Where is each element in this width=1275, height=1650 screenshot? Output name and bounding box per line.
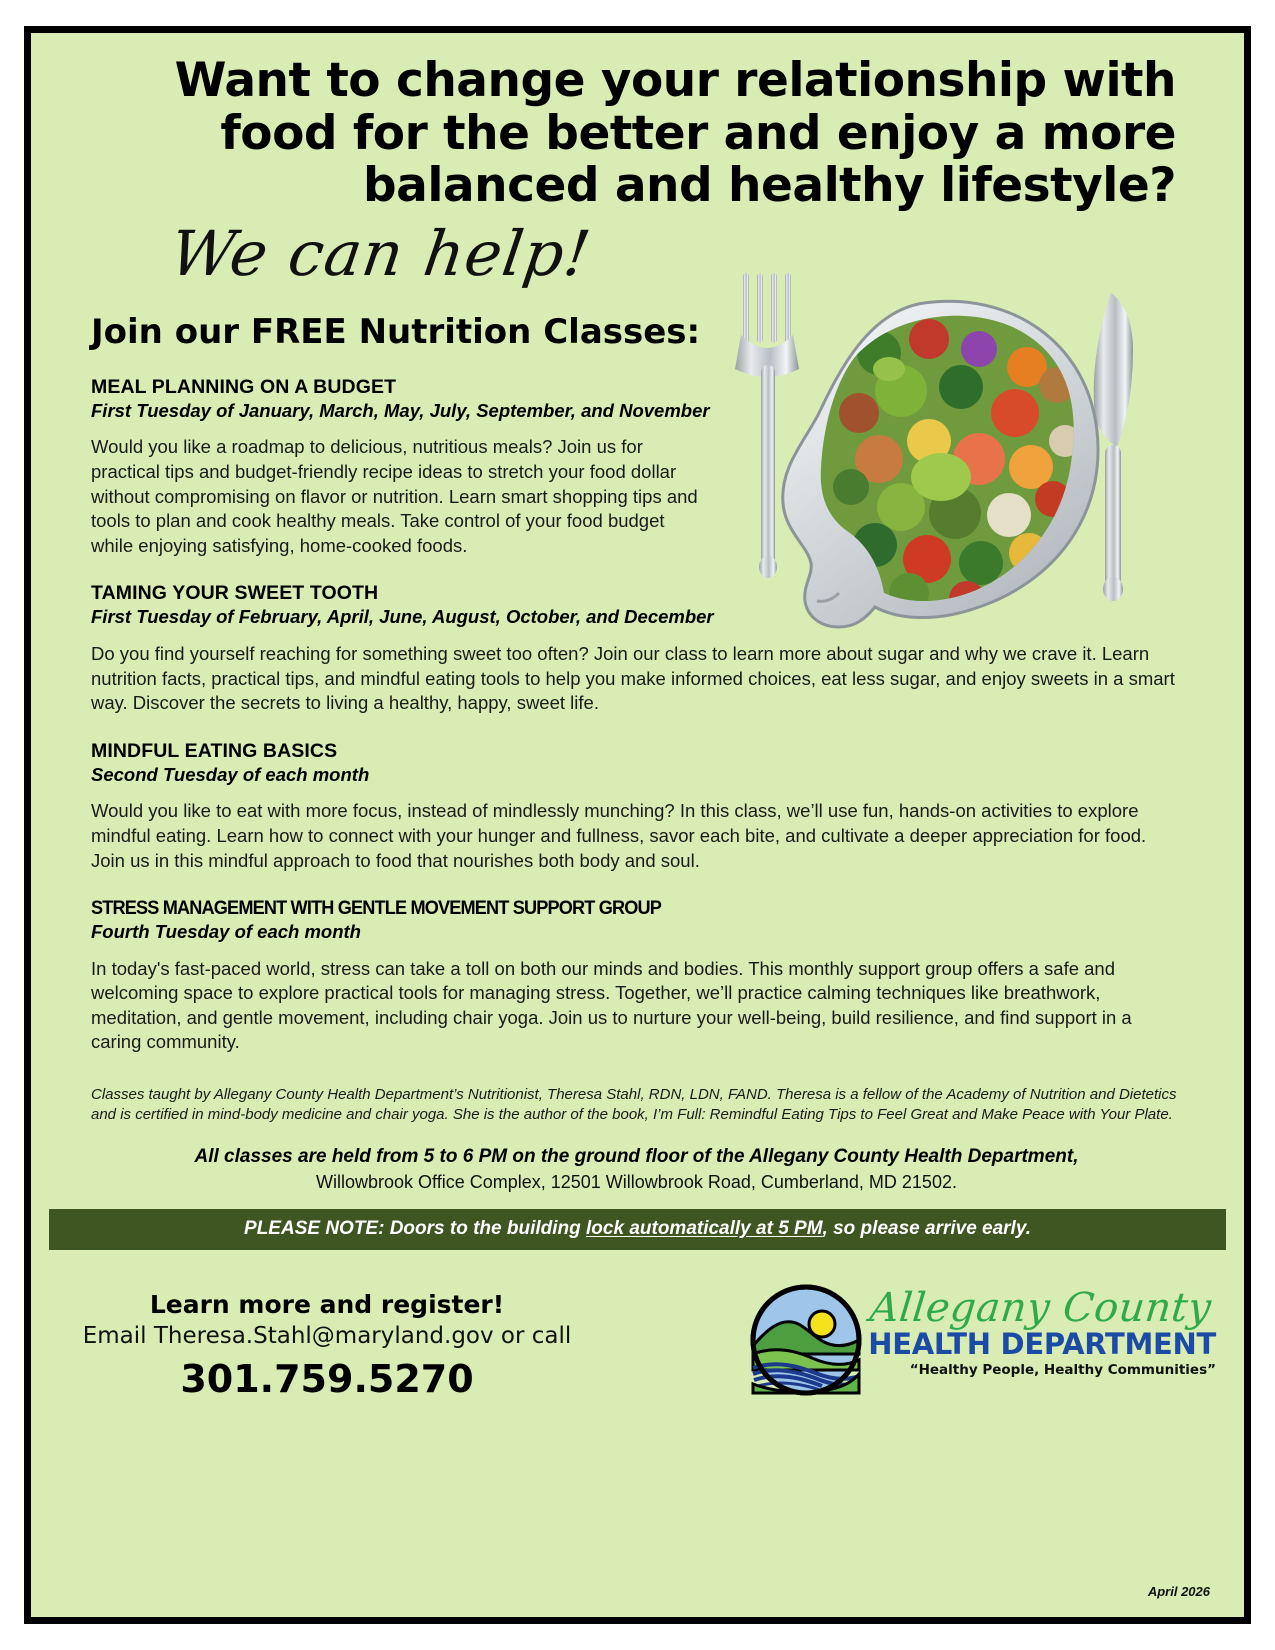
class-description: Would you like to eat with more focus, i… — [91, 799, 1182, 873]
class-block: MEAL PLANNING ON A BUDGET First Tuesday … — [91, 376, 711, 559]
please-note-banner: PLEASE NOTE: Doors to the building lock … — [49, 1209, 1226, 1250]
class-name: TAMING YOUR SWEET TOOTH — [91, 582, 1182, 605]
location-time-line: All classes are held from 5 to 6 PM on t… — [91, 1146, 1182, 1168]
note-suffix: , so please arrive early. — [823, 1218, 1031, 1239]
class-description: In today's fast-paced world, stress can … — [91, 957, 1182, 1055]
footer: Learn more and register! Email Theresa.S… — [31, 1278, 1244, 1401]
contact-block: Learn more and register! Email Theresa.S… — [67, 1278, 587, 1401]
class-name: STRESS MANAGEMENT WITH GENTLE MOVEMENT S… — [91, 897, 1106, 920]
class-schedule: Fourth Tuesday of each month — [91, 921, 1182, 944]
flyer-page: Want to change your relationship with fo… — [0, 0, 1275, 1650]
location-address-line: Willowbrook Office Complex, 12501 Willow… — [91, 1172, 1182, 1193]
phone-number[interactable]: 301.759.5270 — [67, 1357, 587, 1401]
headline-line-3: balanced and healthy lifestyle? — [101, 160, 1176, 213]
join-classes-title: Join our FREE Nutrition Classes: — [91, 312, 1244, 352]
class-block: STRESS MANAGEMENT WITH GENTLE MOVEMENT S… — [91, 897, 1182, 1055]
class-schedule: First Tuesday of January, March, May, Ju… — [91, 400, 711, 423]
headline-line-1: Want to change your relationship with — [101, 55, 1176, 108]
class-description: Would you like a roadmap to delicious, n… — [91, 435, 711, 558]
script-tagline: We can help! — [166, 217, 1249, 290]
class-schedule: First Tuesday of February, April, June, … — [91, 606, 1182, 629]
learn-more-heading: Learn more and register! — [67, 1290, 587, 1319]
instructor-credits: Classes taught by Allegany County Health… — [91, 1085, 1182, 1124]
class-block: MINDFUL EATING BASICS Second Tuesday of … — [91, 740, 1182, 873]
headline-line-2: food for the better and enjoy a more — [101, 108, 1176, 161]
logo-tagline: “Healthy People, Healthy Communities” — [868, 1362, 1216, 1378]
health-department-logo: Allegany County HEALTH DEPARTMENT “Healt… — [750, 1278, 1216, 1401]
flyer-border: Want to change your relationship with fo… — [24, 26, 1251, 1624]
class-block: TAMING YOUR SWEET TOOTH First Tuesday of… — [91, 582, 1182, 715]
logo-county-name: Allegany County — [868, 1288, 1220, 1328]
logo-wordmark: Allegany County HEALTH DEPARTMENT “Healt… — [868, 1284, 1216, 1378]
location-info: All classes are held from 5 to 6 PM on t… — [91, 1146, 1182, 1193]
note-underlined-text: lock automatically at 5 PM — [586, 1218, 823, 1239]
class-name: MEAL PLANNING ON A BUDGET — [91, 376, 711, 399]
class-name: MINDFUL EATING BASICS — [91, 740, 1182, 763]
logo-badge-icon — [750, 1284, 862, 1401]
logo-department-name: HEALTH DEPARTMENT — [868, 1329, 1216, 1359]
email-contact-line[interactable]: Email Theresa.Stahl@maryland.gov or call — [67, 1323, 587, 1349]
date-stamp: April 2026 — [1148, 1584, 1210, 1599]
flyer-content: Want to change your relationship with fo… — [31, 33, 1244, 1617]
classes-content: MEAL PLANNING ON A BUDGET First Tuesday … — [31, 376, 1244, 1193]
class-description: Do you find yourself reaching for someth… — [91, 642, 1182, 716]
class-schedule: Second Tuesday of each month — [91, 764, 1182, 787]
note-prefix: PLEASE NOTE: Doors to the building — [244, 1218, 586, 1239]
page-title: Want to change your relationship with fo… — [31, 33, 1244, 213]
